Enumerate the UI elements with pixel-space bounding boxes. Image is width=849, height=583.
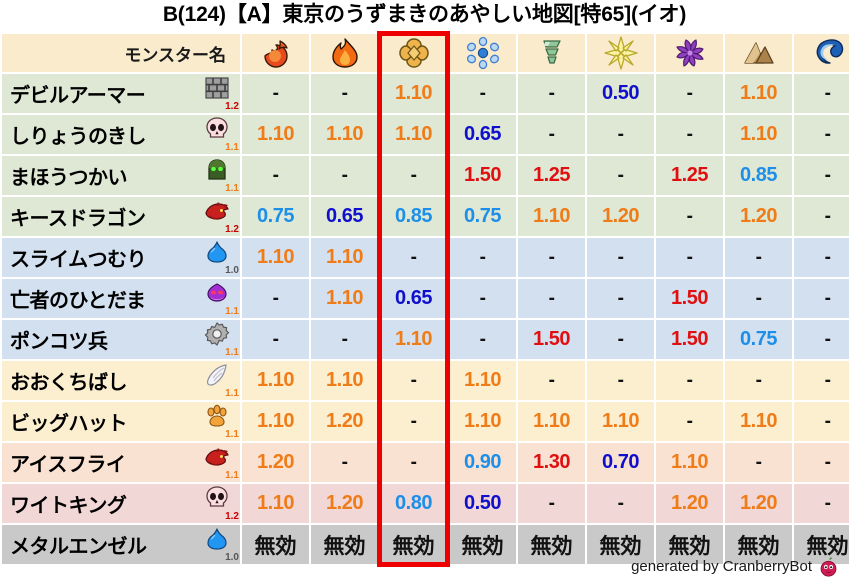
column-header-monster-name: モンスター名 — [2, 34, 240, 72]
table-header: モンスター名 — [2, 34, 849, 72]
table-row: アイスフライ1.11.20--0.901.300.701.10-- — [2, 443, 849, 482]
monster-multiplier: 1.1 — [225, 430, 239, 440]
bagi-tornado-icon — [535, 36, 569, 70]
resistance-cell: - — [449, 74, 516, 113]
resistance-cell: 1.10 — [725, 402, 792, 441]
gear-icon — [204, 321, 230, 347]
monster-name-label: まほうつかい — [10, 161, 127, 190]
resistance-cell: - — [656, 361, 723, 400]
monster-badge: 1.1 — [202, 157, 240, 194]
table-header-row: モンスター名 — [2, 34, 849, 72]
monster-name-label: しりょうのきし — [10, 120, 146, 149]
monster-multiplier: 1.2 — [225, 225, 239, 235]
monster-badge: 1.0 — [202, 239, 240, 276]
resistance-cell: - — [518, 238, 585, 277]
table-row: ビッグハット1.11.101.20-1.101.101.10-1.10- — [2, 402, 849, 441]
brick-wall-icon — [204, 75, 230, 101]
cranberry-icon — [818, 556, 839, 577]
resistance-cell: - — [794, 443, 849, 482]
monster-name-cell[interactable]: ビッグハット1.1 — [2, 402, 240, 441]
resistance-cell: - — [794, 402, 849, 441]
monster-badge: 1.2 — [202, 75, 240, 112]
paw-print-icon — [204, 403, 230, 429]
resistance-table-wrapper: モンスター名 デビルアーマー1.2--1.10--0.50-1.10-しりょうの… — [0, 32, 849, 566]
resistance-cell: - — [449, 320, 516, 359]
resistance-cell: - — [587, 320, 654, 359]
resistance-cell: 1.20 — [725, 484, 792, 523]
resistance-cell: - — [656, 402, 723, 441]
resistance-cell: 1.20 — [587, 197, 654, 236]
table-row: 亡者のひとだま1.1-1.100.65---1.50-- — [2, 279, 849, 318]
resistance-cell: 1.10 — [725, 115, 792, 154]
column-header-merazoma-wave[interactable] — [794, 34, 849, 72]
blue-slime-icon — [204, 526, 230, 552]
resistance-cell: 1.10 — [242, 238, 309, 277]
monster-multiplier: 1.1 — [225, 307, 239, 317]
resistance-cell: - — [380, 361, 447, 400]
resistance-cell: - — [242, 156, 309, 195]
resistance-cell: - — [587, 361, 654, 400]
resistance-cell: 無効 — [380, 525, 447, 564]
resistance-cell: - — [794, 361, 849, 400]
monster-multiplier: 1.1 — [225, 143, 239, 153]
resistance-cell: 1.50 — [518, 320, 585, 359]
green-ghost-icon — [204, 157, 230, 183]
column-header-dorma-dark-swirl[interactable] — [656, 34, 723, 72]
monster-badge: 1.0 — [202, 526, 240, 563]
monster-name-cell[interactable]: しりょうのきし1.1 — [2, 115, 240, 154]
resistance-cell: 1.10 — [725, 74, 792, 113]
resistance-cell: 1.10 — [311, 238, 378, 277]
resistance-cell: 1.20 — [725, 197, 792, 236]
resistance-cell: - — [242, 279, 309, 318]
monster-name-cell[interactable]: デビルアーマー1.2 — [2, 74, 240, 113]
resistance-cell: - — [794, 115, 849, 154]
resistance-cell: 1.50 — [656, 279, 723, 318]
table-row: しりょうのきし1.11.101.101.100.65---1.10- — [2, 115, 849, 154]
pink-skull-icon — [204, 485, 230, 511]
resistance-cell: - — [380, 156, 447, 195]
resistance-cell: 1.25 — [656, 156, 723, 195]
table-body: デビルアーマー1.2--1.10--0.50-1.10-しりょうのきし1.11.… — [2, 74, 849, 564]
footer-credit: generated by CranberryBot — [631, 556, 839, 577]
resistance-cell: - — [725, 443, 792, 482]
monster-multiplier: 1.2 — [225, 102, 239, 112]
white-wing-icon — [204, 362, 230, 388]
merazoma-wave-icon — [811, 36, 845, 70]
resistance-table: モンスター名 デビルアーマー1.2--1.10--0.50-1.10-しりょうの… — [0, 32, 849, 566]
monster-name-label: デビルアーマー — [10, 79, 145, 108]
resistance-cell: - — [794, 279, 849, 318]
resistance-cell: 無効 — [518, 525, 585, 564]
blue-slime-icon — [204, 239, 230, 265]
resistance-cell: 1.20 — [656, 484, 723, 523]
monster-multiplier: 1.2 — [225, 512, 239, 522]
resistance-cell: 1.30 — [518, 443, 585, 482]
column-header-jiba-earth[interactable] — [725, 34, 792, 72]
monster-name-label: キースドラゴン — [10, 202, 146, 231]
pink-skull-icon — [204, 116, 230, 142]
resistance-cell: 1.10 — [380, 115, 447, 154]
monster-badge: 1.1 — [202, 362, 240, 399]
monster-badge: 1.2 — [202, 485, 240, 522]
monster-name-label: ポンコツ兵 — [10, 325, 108, 354]
table-row: ポンコツ兵1.1--1.10-1.50-1.500.75- — [2, 320, 849, 359]
monster-name-cell[interactable]: おおくちばし1.1 — [2, 361, 240, 400]
resistance-cell: 1.20 — [242, 443, 309, 482]
jiba-earth-icon — [742, 36, 776, 70]
resistance-cell: 無効 — [449, 525, 516, 564]
column-header-meramera-fire-ball[interactable] — [242, 34, 309, 72]
resistance-cell: 1.10 — [311, 279, 378, 318]
resistance-cell: - — [587, 238, 654, 277]
resistance-cell: 1.10 — [311, 361, 378, 400]
monster-multiplier: 1.0 — [225, 266, 239, 276]
resistance-cell: - — [587, 156, 654, 195]
hyado-ice-crystal-icon — [466, 36, 500, 70]
resistance-cell: 1.20 — [311, 402, 378, 441]
monster-name-label: アイスフライ — [10, 448, 125, 477]
resistance-cell: - — [311, 74, 378, 113]
resistance-cell: - — [311, 320, 378, 359]
purple-flame-icon — [204, 280, 230, 306]
resistance-cell: 0.85 — [380, 197, 447, 236]
resistance-cell: - — [794, 320, 849, 359]
resistance-cell: 0.80 — [380, 484, 447, 523]
resistance-cell: - — [518, 484, 585, 523]
resistance-cell: 0.50 — [449, 484, 516, 523]
monster-name-label: おおくちばし — [10, 366, 127, 395]
resistance-cell: 0.85 — [725, 156, 792, 195]
resistance-cell: 1.25 — [518, 156, 585, 195]
monster-name-cell[interactable]: スライムつむり1.0 — [2, 238, 240, 277]
resistance-cell: - — [725, 361, 792, 400]
resistance-cell: - — [518, 74, 585, 113]
red-dragon-icon — [204, 444, 230, 470]
resistance-cell: 無効 — [311, 525, 378, 564]
resistance-cell: - — [380, 238, 447, 277]
resistance-cell: - — [794, 156, 849, 195]
red-dragon-icon — [204, 198, 230, 224]
monster-multiplier: 1.1 — [225, 471, 239, 481]
monster-name-label: ビッグハット — [10, 407, 127, 436]
meramera-fire-ball-icon — [259, 36, 293, 70]
monster-badge: 1.1 — [202, 280, 240, 317]
resistance-cell: - — [518, 279, 585, 318]
resistance-cell: - — [725, 238, 792, 277]
dorma-dark-swirl-icon — [673, 36, 707, 70]
table-row: デビルアーマー1.2--1.10--0.50-1.10- — [2, 74, 849, 113]
resistance-cell: 1.10 — [242, 361, 309, 400]
resistance-cell: - — [242, 74, 309, 113]
resistance-cell: 0.75 — [449, 197, 516, 236]
resistance-cell: 0.75 — [725, 320, 792, 359]
monster-name-header-label: モンスター名 — [124, 46, 226, 65]
resistance-cell: 0.65 — [311, 197, 378, 236]
resistance-cell: - — [725, 279, 792, 318]
page-title: B(124)【A】東京のうずまきのあやしい地図[特65](イオ) — [0, 0, 849, 32]
resistance-cell: 0.70 — [587, 443, 654, 482]
monster-badge: 1.1 — [202, 444, 240, 481]
resistance-cell: - — [449, 279, 516, 318]
dein-light-burst-icon — [604, 36, 638, 70]
resistance-cell: - — [587, 115, 654, 154]
resistance-cell: - — [242, 320, 309, 359]
resistance-cell: - — [656, 74, 723, 113]
monster-name-label: メタルエンゼル — [10, 530, 147, 559]
table-row: ワイトキング1.21.101.200.800.50--1.201.20- — [2, 484, 849, 523]
resistance-cell: 1.10 — [449, 361, 516, 400]
monster-badge: 1.1 — [202, 321, 240, 358]
resistance-cell: 1.10 — [242, 115, 309, 154]
resistance-cell: 0.90 — [449, 443, 516, 482]
monster-name-label: ワイトキング — [10, 489, 126, 518]
monster-name-cell[interactable]: キースドラゴン1.2 — [2, 197, 240, 236]
footer-text: generated by CranberryBot — [631, 558, 812, 575]
table-row: スライムつむり1.01.101.10------- — [2, 238, 849, 277]
monster-name-cell[interactable]: アイスフライ1.1 — [2, 443, 240, 482]
resistance-cell: 0.75 — [242, 197, 309, 236]
monster-name-cell[interactable]: まほうつかい1.1 — [2, 156, 240, 195]
resistance-cell: 1.50 — [449, 156, 516, 195]
resistance-cell: 0.65 — [380, 279, 447, 318]
resistance-cell: - — [518, 361, 585, 400]
resistance-cell: 1.10 — [449, 402, 516, 441]
monster-badge: 1.1 — [202, 116, 240, 153]
resistance-cell: - — [794, 484, 849, 523]
resistance-cell: - — [518, 115, 585, 154]
resistance-cell: - — [794, 238, 849, 277]
monster-name-cell[interactable]: ポンコツ兵1.1 — [2, 320, 240, 359]
resistance-cell: - — [794, 197, 849, 236]
monster-name-label: 亡者のひとだま — [10, 284, 146, 313]
table-row: おおくちばし1.11.101.10-1.10----- — [2, 361, 849, 400]
io-explosion-icon — [397, 36, 431, 70]
resistance-cell: - — [587, 484, 654, 523]
monster-badge: 1.2 — [202, 198, 240, 235]
resistance-cell: 1.10 — [656, 443, 723, 482]
resistance-cell: 1.10 — [380, 74, 447, 113]
resistance-cell: 0.65 — [449, 115, 516, 154]
column-header-bagi-tornado[interactable] — [518, 34, 585, 72]
resistance-cell: 1.10 — [518, 402, 585, 441]
resistance-cell: - — [794, 74, 849, 113]
resistance-cell: 1.10 — [518, 197, 585, 236]
resistance-cell: 1.10 — [242, 484, 309, 523]
monster-multiplier: 1.1 — [225, 184, 239, 194]
monster-multiplier: 1.1 — [225, 389, 239, 399]
resistance-cell: - — [380, 402, 447, 441]
resistance-cell: - — [656, 197, 723, 236]
column-header-gira-flame[interactable] — [311, 34, 378, 72]
resistance-cell: - — [380, 443, 447, 482]
column-header-dein-light-burst[interactable] — [587, 34, 654, 72]
table-row: まほうつかい1.1---1.501.25-1.250.85- — [2, 156, 849, 195]
monster-multiplier: 1.1 — [225, 348, 239, 358]
resistance-cell: 1.10 — [380, 320, 447, 359]
monster-multiplier: 1.0 — [225, 553, 239, 563]
column-header-io-explosion[interactable] — [380, 34, 447, 72]
resistance-cell: 1.10 — [242, 402, 309, 441]
monster-name-cell[interactable]: 亡者のひとだま1.1 — [2, 279, 240, 318]
gira-flame-icon — [328, 36, 362, 70]
resistance-cell: - — [587, 279, 654, 318]
resistance-cell: 1.20 — [311, 484, 378, 523]
resistance-cell: 0.50 — [587, 74, 654, 113]
resistance-cell: 1.10 — [587, 402, 654, 441]
monster-name-label: スライムつむり — [10, 243, 146, 272]
resistance-cell: - — [656, 115, 723, 154]
resistance-cell: 無効 — [242, 525, 309, 564]
resistance-cell: - — [656, 238, 723, 277]
resistance-cell: - — [311, 156, 378, 195]
resistance-cell: 1.10 — [311, 115, 378, 154]
monster-name-cell[interactable]: ワイトキング1.2 — [2, 484, 240, 523]
monster-name-cell[interactable]: メタルエンゼル1.0 — [2, 525, 240, 564]
column-header-hyado-ice-crystal[interactable] — [449, 34, 516, 72]
resistance-cell: 1.50 — [656, 320, 723, 359]
resistance-cell: - — [449, 238, 516, 277]
monster-badge: 1.1 — [202, 403, 240, 440]
resistance-cell: - — [311, 443, 378, 482]
table-row: キースドラゴン1.20.750.650.850.751.101.20-1.20- — [2, 197, 849, 236]
